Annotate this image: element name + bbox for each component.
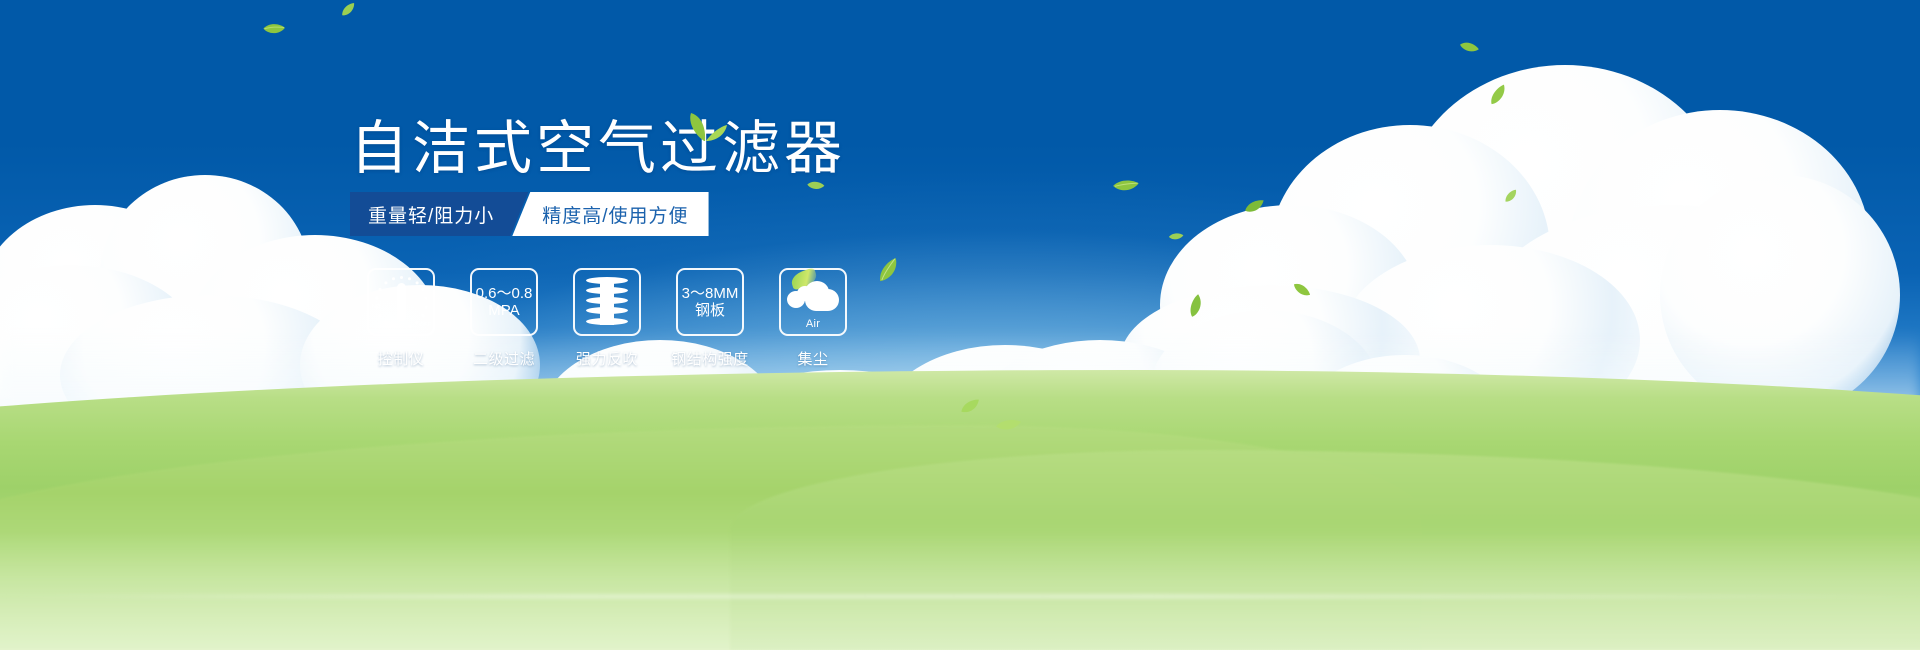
feature-item-filtration[interactable]: 0.6〜0.8 MPA 二级过滤 [453, 268, 555, 369]
leaf-icon [682, 92, 728, 154]
steel-plate-text-icon: 3〜8MM 钢板 [682, 285, 739, 319]
feature-icon-row: NO OFF 控制仪 0.6〜0.8 MPA 二级过滤 [350, 268, 865, 369]
steel-material: 钢板 [682, 302, 739, 319]
dial-label-off: OFF [419, 322, 431, 328]
feature-caption: 集尘 [797, 348, 828, 369]
hero-banner: 自洁式空气过滤器 重量轻/阻力小 精度高/使用方便 [0, 0, 1920, 650]
feature-caption: 强力反吹 [576, 348, 638, 369]
feature-caption: 钢结构强度 [671, 348, 749, 369]
pressure-range: 0.6〜0.8 [476, 285, 533, 302]
dial-label-no: NO [372, 304, 381, 310]
feature-tabs: 重量轻/阻力小 精度高/使用方便 [350, 192, 709, 236]
dial-gauge-icon: NO OFF [373, 274, 429, 330]
feature-item-steel-strength[interactable]: 3〜8MM 钢板 钢结构强度 [659, 268, 761, 369]
feature-icon-box [573, 268, 641, 336]
feature-icon-box: 0.6〜0.8 MPA [470, 268, 538, 336]
feature-item-backblow[interactable]: 强力反吹 [556, 268, 658, 369]
feature-item-dust-collection[interactable]: Air 集尘 [762, 268, 864, 369]
cloud-air-icon: Air [785, 277, 841, 327]
feature-item-controller[interactable]: NO OFF 控制仪 [350, 268, 452, 369]
tab-precision-convenience[interactable]: 精度高/使用方便 [512, 192, 708, 236]
pressure-text-icon: 0.6〜0.8 MPA [476, 285, 533, 319]
pressure-unit: MPA [476, 302, 533, 319]
banner-content: 自洁式空气过滤器 重量轻/阻力小 精度高/使用方便 [0, 0, 1920, 650]
feature-icon-box: 3〜8MM 钢板 [676, 268, 744, 336]
coil-spring-icon [586, 277, 628, 327]
steel-thickness: 3〜8MM [682, 285, 739, 302]
feature-icon-box: Air [779, 268, 847, 336]
page-title: 自洁式空气过滤器 [350, 118, 846, 180]
feature-icon-box: NO OFF [367, 268, 435, 336]
feature-caption: 二级过滤 [473, 348, 535, 369]
air-label: Air [785, 318, 841, 330]
page-title-text: 自洁式空气过滤器 [350, 116, 846, 181]
feature-caption: 控制仪 [378, 348, 425, 369]
tab-weight-resistance[interactable]: 重量轻/阻力小 [350, 192, 528, 236]
